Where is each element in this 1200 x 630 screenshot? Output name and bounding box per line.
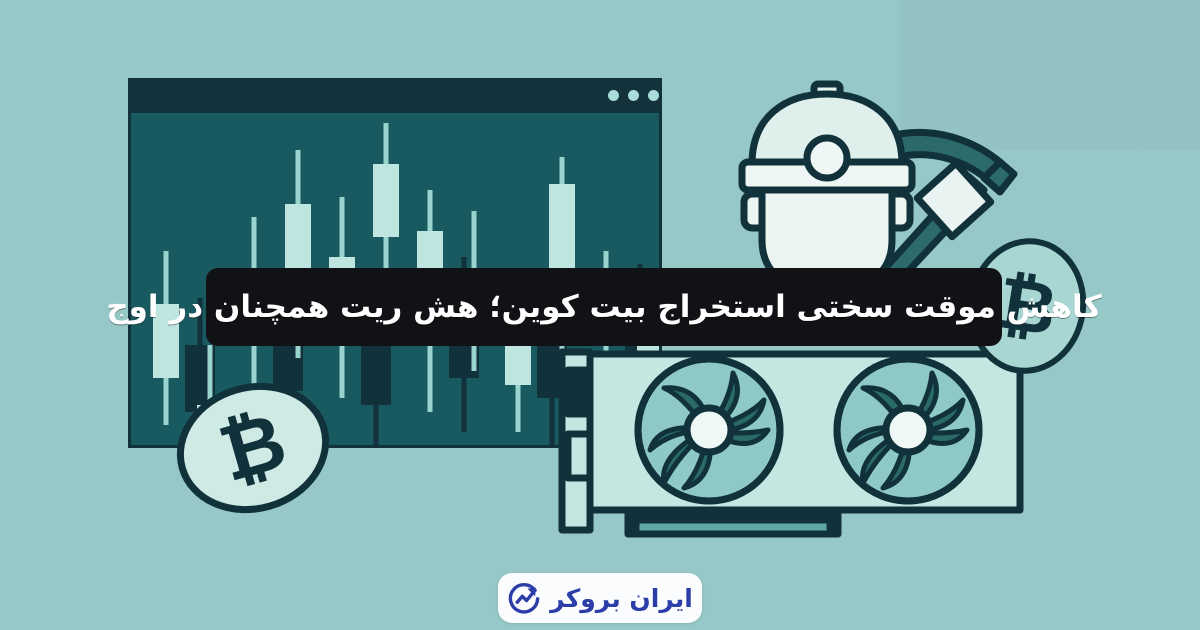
brand-name: ایران بروکر [550,586,693,611]
candlestick [153,110,179,445]
gpu-graphics-card-icon [556,330,1026,560]
window-dot-close-icon[interactable] [648,90,659,101]
chart-window-titlebar [131,81,659,113]
brand-logo[interactable]: ایران بروکر [498,573,702,623]
headline-text: کاهش موقت سختی استخراج بیت کوین؛ هش ریت … [106,288,1101,327]
window-dot-maximize-icon[interactable] [608,90,619,101]
window-dot-minimize-icon[interactable] [628,90,639,101]
chart-arrow-circle-icon [507,581,541,615]
candle-body [373,164,399,238]
headline-banner: کاهش موقت سختی استخراج بیت کوین؛ هش ریت … [206,268,1002,346]
candle-body [549,184,575,271]
banner-canvas: ₿ [0,0,1200,630]
candle-body [505,345,531,385]
